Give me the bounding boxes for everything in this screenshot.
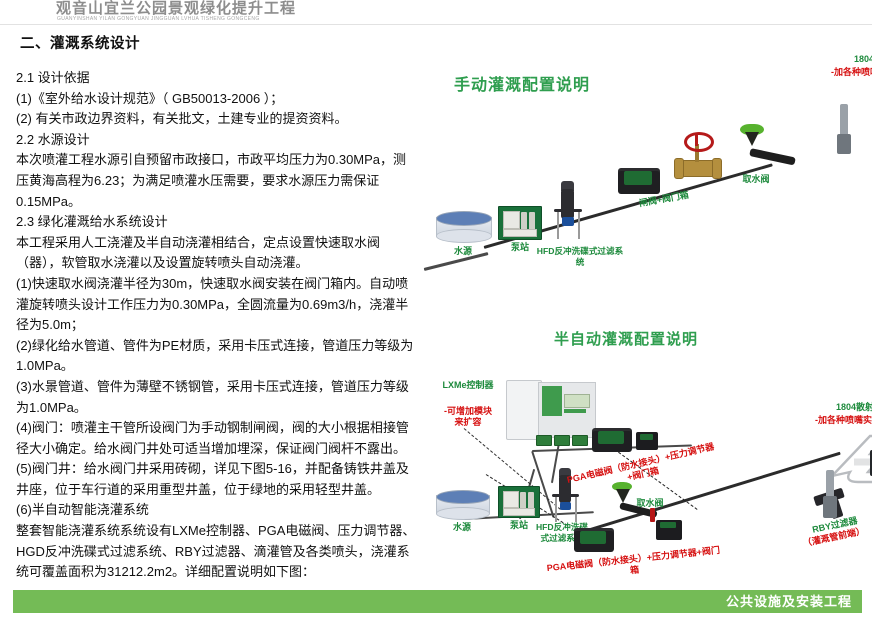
quick-coupling-valve (734, 124, 778, 174)
label-1804-title: 1804散射喷头 (802, 54, 872, 65)
label-pga-lower: PGA电磁阀（防水接头）+压力调节器+阀门箱 (543, 545, 724, 586)
semi-auto-irrigation-diagram: 半自动灌溉配置说明 LXMe控制器 -可增加模块来扩容 (424, 322, 872, 584)
paragraph-2-2-heading: 2.2 水源设计 (16, 130, 416, 151)
paragraph-item-1: (1)快速取水阀浇灌半径为30m，快速取水阀安装在阀门箱内。自动喷灌旋转喷头设计… (16, 274, 416, 336)
label-1804-note: -加各种喷嘴实现不同射程 (792, 67, 872, 78)
water-source-tank (436, 211, 490, 243)
lxme-controller (506, 380, 598, 444)
pga-solenoid-lower (656, 520, 682, 540)
pga-valve-box-lower (574, 528, 614, 552)
paragraph-item-2: (2)绿化给水管道、管件为PE材质，采用卡压式连接，管道压力等级为1.0MPa。 (16, 336, 416, 377)
semi-auto-diagram-title: 半自动灌溉配置说明 (554, 328, 698, 349)
footer-label: 公共设施及安装工程 (726, 593, 852, 610)
paragraph-item-3: (3)水景管道、管件为薄壁不锈钢管，采用卡压式连接，管道压力等级为1.0MPa。 (16, 377, 416, 418)
page-footer: 公共设施及安装工程 (13, 590, 862, 613)
pga-solenoid-upper (636, 432, 658, 450)
pump-station-lower (498, 486, 540, 518)
valve-box (618, 168, 660, 194)
gate-valve (672, 128, 722, 182)
label-hfd-filter: HFD反冲洗碟式过滤系统 (534, 246, 626, 267)
paragraph-item-4: (4)阀门：喷灌主干管所设阀门为手动钢制闸阀，阀的大小根据相接管径大小确定。给水… (16, 418, 416, 459)
paragraph-system-overview: 本工程采用人工浇灌及半自动浇灌相结合，定点设置快速取水阀（器），软管取水浇灌以及… (16, 233, 416, 274)
label-water-source: 水源 (436, 246, 490, 257)
slide-page: 观音山宜兰公园景观绿化提升工程 GUANYINSHAN YILAN GONGYU… (0, 0, 872, 617)
label-sprinkler-joint-lower: 喷头（铰接头） (864, 500, 872, 511)
paragraph-2-1-heading: 2.1 设计依据 (16, 68, 416, 89)
manual-diagram-title: 手动灌溉配置说明 (454, 71, 590, 95)
hfd-filter-system (552, 181, 594, 243)
paragraph-ref-2: (2) 有关市政边界资料，有关批文，土建专业的提资资料。 (16, 109, 416, 130)
header-title-zh: 观音山宜兰公园景观绿化提升工程 (56, 0, 296, 17)
manual-irrigation-diagram: 手动灌溉配置说明 水源 泵站 HFD反冲洗碟式过滤系统 (424, 46, 872, 296)
label-lxme-note: -可增加模块来扩容 (440, 406, 496, 429)
header-divider (0, 24, 872, 25)
label-1804-title-lower: 1804散射喷头 (784, 402, 872, 413)
label-lxme-title: LXMe控制器 (438, 380, 498, 391)
paragraph-2-3-heading: 2.3 绿化灌溉给水系统设计 (16, 212, 416, 233)
document-text-column: 二、灌溉系统设计 2.1 设计依据 (1)《室外给水设计规范》（ GB50013… (16, 34, 416, 583)
label-1804-note-lower: -加各种喷嘴实现不同射程 (776, 415, 872, 426)
pressure-regulator (650, 508, 655, 522)
pga-valve-box-upper (592, 428, 632, 452)
paragraph-ref-1: (1)《室外给水设计规范》（ GB50013-2006 ）； (16, 89, 416, 110)
paragraph-water-source: 本次喷灌工程水源引自预留市政接口，市政平均压力为0.30MPa，测压黄海高程为6… (16, 150, 416, 212)
paragraph-item-6-heading: (6)半自动智能浇灌系统 (16, 500, 416, 521)
page-header: 观音山宜兰公园景观绿化提升工程 GUANYINSHAN YILAN GONGYU… (0, 0, 872, 24)
label-water-source-lower: 水源 (436, 522, 488, 533)
header-title-pinyin: GUANYINSHAN YILAN GONGYUAN JINGGUAN LVHU… (57, 16, 260, 22)
paragraph-item-5: (5)阀门井：给水阀门井采用砖砌，详见下图5-16，并配备铸铁井盖及井座，位于车… (16, 459, 416, 500)
spray-head-grey (836, 104, 854, 156)
water-source-tank-lower (436, 490, 488, 520)
paragraph-item-6-body: 整套智能浇灌系统系统设有LXMe控制器、PGA电磁阀、压力调节器、HGD反冲洗碟… (16, 521, 416, 583)
label-hydrant: 取水阀 (722, 174, 790, 185)
pump-station (498, 206, 542, 240)
spray-head-grey-lower (822, 470, 840, 524)
section-title: 二、灌溉系统设计 (20, 34, 416, 54)
